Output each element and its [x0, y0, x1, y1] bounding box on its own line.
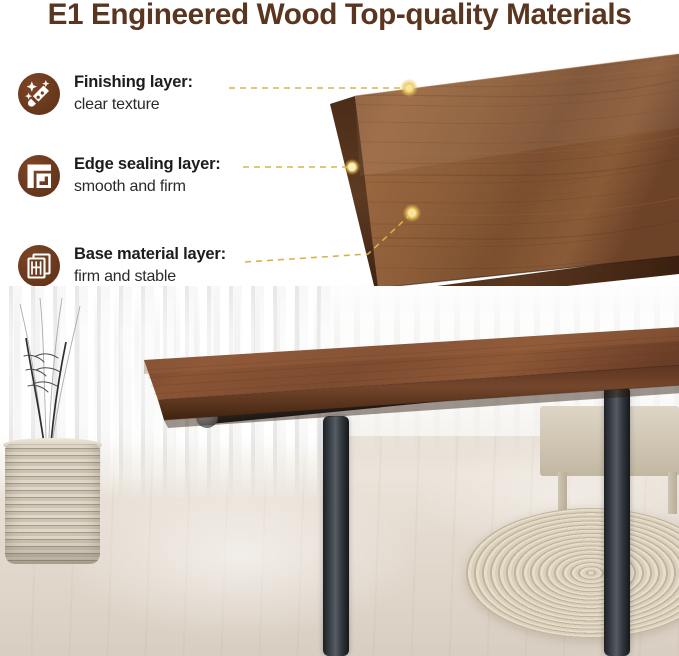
desk-top — [138, 326, 679, 446]
sparkle-brush-icon — [18, 73, 60, 115]
desk-leg-left — [323, 416, 349, 656]
callout-edge-sealing-layer[interactable]: Edge sealing layer: smooth and firm — [18, 155, 221, 197]
callout-heading: Finishing layer: — [74, 73, 193, 92]
callout-finishing-layer[interactable]: Finishing layer: clear texture — [18, 73, 193, 115]
page-title: E1 Engineered Wood Top-quality Materials — [3, 0, 675, 32]
callout-heading: Base material layer: — [74, 245, 226, 264]
callout-description: firm and stable — [74, 267, 226, 287]
desk-room-photo: 25mm thickened panel — [0, 286, 679, 656]
wood-board-stack-icon — [18, 245, 60, 287]
woven-basket-planter — [5, 444, 100, 564]
wood-panel-illustration — [300, 36, 679, 302]
callout-base-material-layer[interactable]: Base material layer: firm and stable — [18, 245, 226, 287]
callout-heading: Edge sealing layer: — [74, 155, 221, 174]
bench-leg — [558, 472, 567, 514]
callout-description: clear texture — [74, 95, 193, 115]
corner-edge-icon — [18, 155, 60, 197]
infographic-root: E1 Engineered Wood Top-quality Materials — [0, 0, 679, 656]
callout-description: smooth and firm — [74, 177, 221, 197]
bench-leg — [668, 472, 677, 514]
